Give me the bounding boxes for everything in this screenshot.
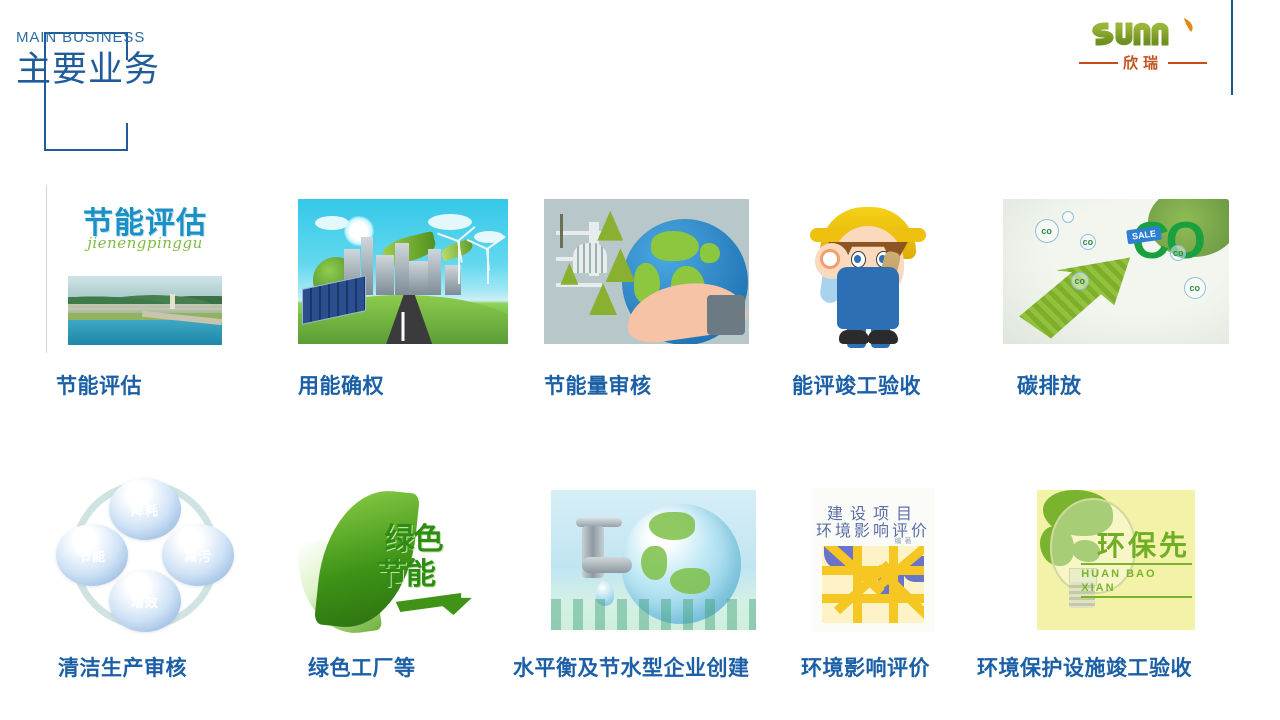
art-pinyin-2: XIAN: [1081, 582, 1115, 594]
sunri-wordmark-icon: [1085, 16, 1203, 52]
card-image-eia: 建设项目 环境影响评价 编著: [812, 488, 934, 632]
card-image-acceptance-inspection: [792, 196, 944, 348]
art-line2: 节能: [377, 549, 435, 593]
art-pinyin-1: HUAN BAO: [1081, 568, 1156, 580]
header-vertical-rule: [1231, 0, 1233, 95]
bubble-top: 降耗: [109, 478, 181, 540]
bubble-bottom: 增效: [109, 570, 181, 632]
logo-dash-right: [1168, 62, 1207, 64]
card-caption: 用能确权: [298, 370, 384, 400]
card-image-carbon-emission: CO SALE co co co co co: [1003, 199, 1229, 344]
art-byline: 编著: [894, 536, 914, 546]
art-title: 环保先: [1097, 524, 1190, 564]
page-title-eyebrow: MAIN BUSINESS: [16, 30, 160, 45]
logo-chinese-text: 欣瑞: [1123, 56, 1163, 71]
card-caption: 清洁生产审核: [58, 652, 187, 682]
page-title: MAIN BUSINESS 主要业务: [16, 30, 160, 91]
card-image-energy-rights: [298, 199, 508, 344]
card-caption: 能评竣工验收: [792, 370, 921, 400]
art-geometric-graphic: [822, 546, 925, 624]
card-image-green-factory: 绿色 节能: [298, 476, 486, 634]
card-image-clean-production-audit: 降耗 减污 增效 节能: [52, 476, 238, 634]
card-caption: 碳排放: [1017, 370, 1082, 400]
art-line2: 环境影响评价: [812, 517, 934, 541]
card-caption: 绿色工厂等: [308, 652, 416, 682]
card-caption: 节能评估: [56, 370, 142, 400]
art-photo: [68, 276, 222, 345]
card-image-energy-saving-audit: [544, 199, 749, 344]
card-caption: 节能量审核: [544, 370, 652, 400]
art-pinyin: jienengpinggu: [56, 234, 234, 252]
bubble-right: 减污: [162, 524, 234, 586]
row1-left-vertical-rule: [46, 185, 47, 353]
card-image-water-balance: [551, 490, 756, 630]
card-caption: 水平衡及节水型企业创建: [513, 652, 750, 682]
company-logo: 欣瑞: [1079, 16, 1207, 78]
card-caption: 环境影响评价: [801, 652, 930, 682]
logo-dash-left: [1079, 62, 1118, 64]
card-caption: 环境保护设施竣工验收: [977, 652, 1192, 682]
logo-chinese-name: 欣瑞: [1079, 53, 1207, 73]
card-image-env-protection-acceptance: 环保先 HUAN BAO XIAN: [1037, 490, 1195, 630]
bubble-left: 节能: [56, 524, 128, 586]
page-title-headline: 主要业务: [16, 50, 160, 91]
card-image-energy-assessment: 节能评估 jienengpinggu: [56, 190, 234, 353]
